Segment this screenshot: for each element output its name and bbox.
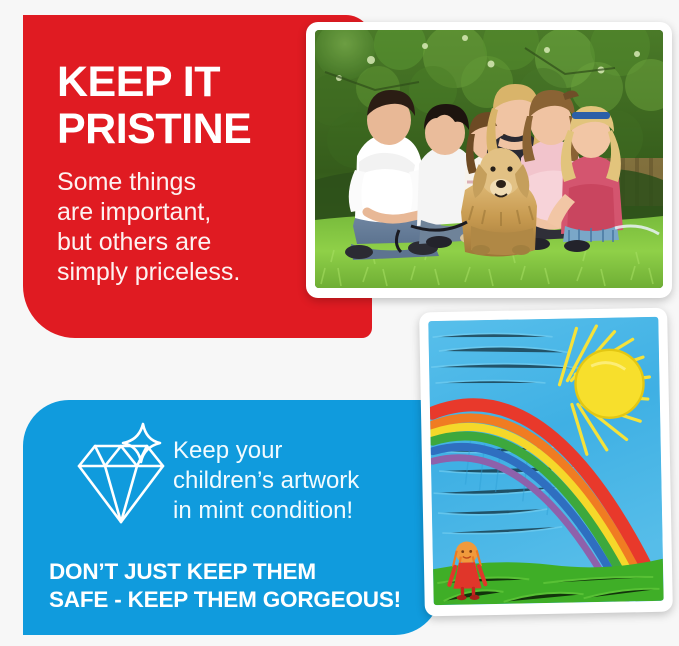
family-photo-image [315, 30, 663, 288]
diamond-sparkle-icon [61, 418, 181, 538]
blue-panel-body: Keep your children’s artwork in mint con… [173, 436, 359, 526]
poster-stage: KEEP IT PRISTINE Some things are importa… [0, 0, 679, 646]
blue-panel: Keep your children’s artwork in mint con… [23, 400, 441, 635]
blue-panel-tagline: DON’T JUST KEEP THEM SAFE - KEEP THEM GO… [49, 558, 401, 614]
page-title: KEEP IT PRISTINE [57, 59, 251, 153]
red-panel-subcopy: Some things are important, but others ar… [57, 167, 240, 287]
childrens-artwork-image [428, 317, 663, 605]
childrens-artwork-card [419, 308, 673, 617]
family-photo-card [306, 22, 672, 298]
